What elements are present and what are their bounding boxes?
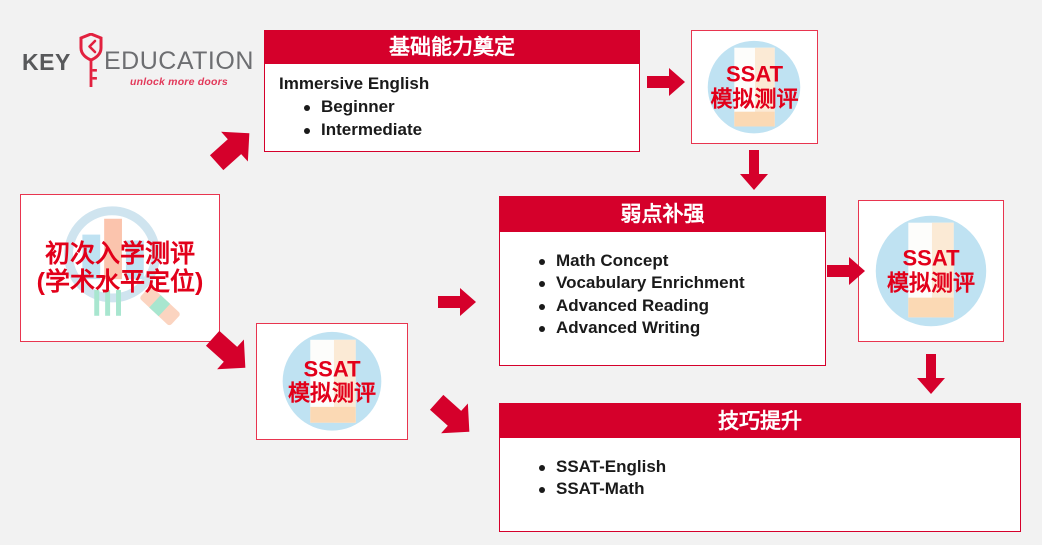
brand-logo: KEY EDUCATION unlock more doors: [22, 35, 237, 90]
weakness-bullet-list: Math Concept Vocabulary Enrichment Advan…: [514, 250, 811, 340]
ssat-mock-top-card[interactable]: SSAT 模拟测评: [691, 30, 818, 144]
ssat-mock-right-label: SSAT 模拟测评: [859, 246, 1003, 295]
arrow-initial-to-foundation-icon: [207, 122, 259, 174]
weakness-panel-title: 弱点补强: [500, 197, 825, 232]
list-item: Beginner: [321, 96, 625, 118]
initial-assessment-label: 初次入学测评 (学术水平定位): [21, 240, 219, 296]
foundation-panel-title: 基础能力奠定: [265, 31, 639, 64]
ssat-mock-top-label: SSAT 模拟测评: [692, 62, 817, 111]
weakness-panel[interactable]: 弱点补强 Math Concept Vocabulary Enrichment …: [499, 196, 826, 366]
arrow-foundation-to-ssat-top-icon: [645, 66, 687, 98]
list-item: Intermediate: [321, 119, 625, 141]
skills-bullet-list: SSAT-English SSAT-Math: [514, 456, 1006, 501]
foundation-bullet-list: Beginner Intermediate: [279, 96, 625, 141]
ssat-mock-left-card[interactable]: SSAT 模拟测评: [256, 323, 408, 440]
foundation-panel[interactable]: 基础能力奠定 Immersive English Beginner Interm…: [264, 30, 640, 152]
list-item: Advanced Reading: [556, 295, 811, 317]
arrow-ssat-left-to-skills-icon: [427, 391, 479, 443]
list-item: Vocabulary Enrichment: [556, 272, 811, 294]
foundation-lead-text: Immersive English: [279, 73, 625, 94]
foundation-panel-body: Immersive English Beginner Intermediate: [265, 64, 639, 147]
logo-education-text: EDUCATION: [104, 47, 254, 76]
logo-tagline: unlock more doors: [130, 76, 228, 88]
arrow-ssat-top-to-weakness-icon: [738, 148, 770, 192]
ssat-mock-right-card[interactable]: SSAT 模拟测评: [858, 200, 1004, 342]
list-item: SSAT-English: [556, 456, 1006, 478]
arrow-ssat-right-to-skills-icon: [915, 352, 947, 396]
initial-assessment-card[interactable]: 初次入学测评 (学术水平定位): [20, 194, 220, 342]
list-item: SSAT-Math: [556, 478, 1006, 500]
list-item: Advanced Writing: [556, 317, 811, 339]
arrow-weakness-to-ssat-right-icon: [825, 255, 867, 287]
key-shield-icon: [79, 33, 103, 89]
diagram-canvas: KEY EDUCATION unlock more doors 基础能力奠定 I…: [0, 0, 1042, 545]
ssat-mock-left-label: SSAT 模拟测评: [257, 357, 407, 406]
skills-panel-title: 技巧提升: [500, 404, 1020, 438]
skills-panel-body: SSAT-English SSAT-Math: [500, 438, 1020, 507]
logo-key-text: KEY: [22, 49, 71, 76]
arrow-ssat-left-to-weakness-icon: [436, 286, 478, 318]
skills-panel[interactable]: 技巧提升 SSAT-English SSAT-Math: [499, 403, 1021, 532]
list-item: Math Concept: [556, 250, 811, 272]
arrow-initial-to-ssat-left-icon: [203, 327, 255, 379]
weakness-panel-body: Math Concept Vocabulary Enrichment Advan…: [500, 232, 825, 346]
